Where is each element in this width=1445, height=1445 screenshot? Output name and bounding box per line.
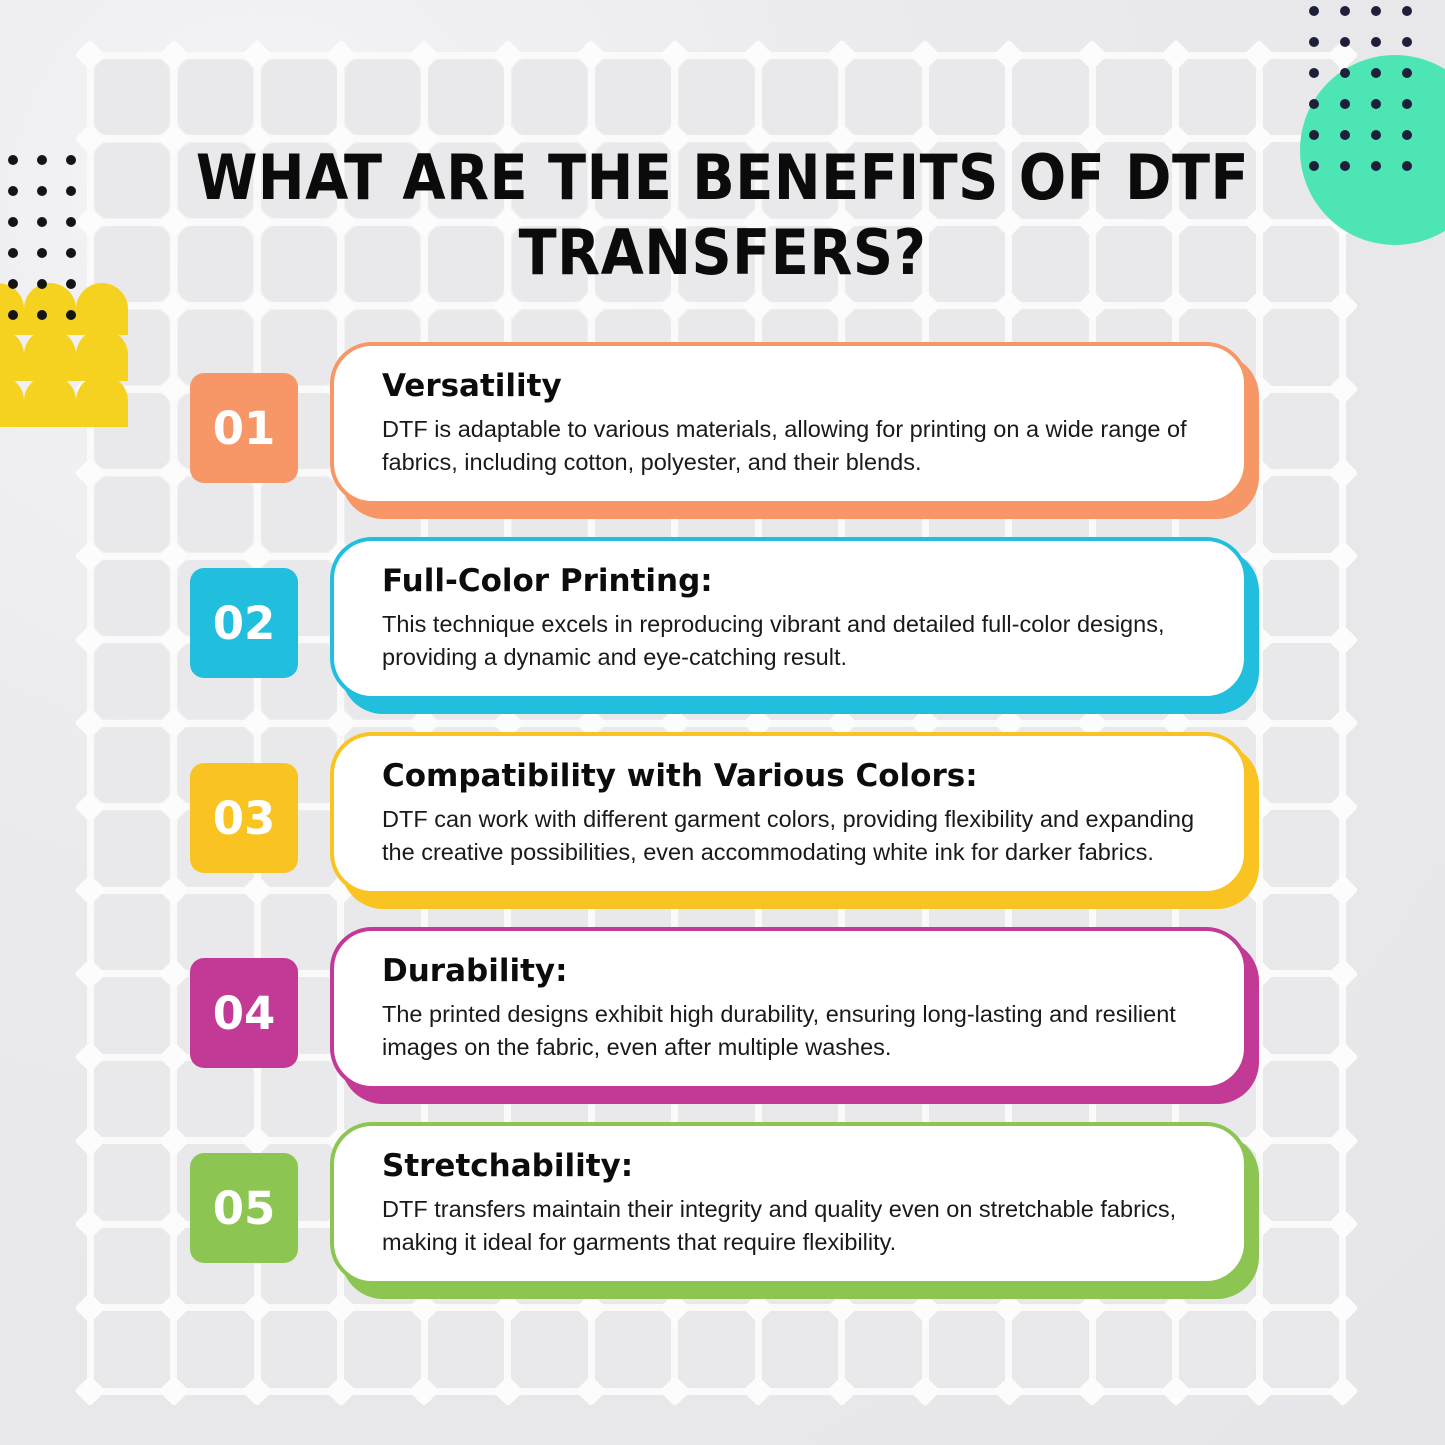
decorative-dot: [66, 310, 76, 320]
decorative-dot: [37, 155, 47, 165]
benefit-card-body: The printed designs exhibit high durabil…: [382, 998, 1210, 1064]
decorative-dot: [37, 186, 47, 196]
benefit-card-body: DTF transfers maintain their integrity a…: [382, 1193, 1210, 1259]
decorative-dot: [37, 248, 47, 258]
benefit-number-badge[interactable]: 05: [190, 1153, 298, 1263]
benefit-card-heading: Stretchability:: [382, 1146, 1210, 1186]
benefit-row: 03Compatibility with Various Colors:DTF …: [0, 728, 1445, 923]
decorative-dot: [8, 279, 18, 289]
decorative-dot: [1371, 68, 1381, 78]
benefit-card-heading: Versatility: [382, 366, 1210, 406]
decorative-dot: [8, 310, 18, 320]
benefit-row: 04Durability:The printed designs exhibit…: [0, 923, 1445, 1118]
decorative-dot: [1371, 130, 1381, 140]
decorative-dot: [1371, 99, 1381, 109]
decorative-dot: [1340, 161, 1350, 171]
benefit-card-body: DTF is adaptable to various materials, a…: [382, 413, 1210, 479]
decorative-dot: [1340, 6, 1350, 16]
benefit-card-wrapper: Durability:The printed designs exhibit h…: [330, 927, 1255, 1102]
benefit-card-wrapper: Stretchability:DTF transfers maintain th…: [330, 1122, 1255, 1297]
decorative-dot: [1309, 37, 1319, 47]
decorative-dot: [37, 279, 47, 289]
benefit-card-body: DTF can work with different garment colo…: [382, 803, 1210, 869]
decorative-dot: [1402, 130, 1412, 140]
benefit-card[interactable]: Stretchability:DTF transfers maintain th…: [330, 1122, 1248, 1285]
decorative-dot: [66, 217, 76, 227]
decorative-dot: [8, 248, 18, 258]
benefit-row: 02Full-Color Printing:This technique exc…: [0, 533, 1445, 728]
benefit-number-badge[interactable]: 03: [190, 763, 298, 873]
benefit-card[interactable]: Compatibility with Various Colors:DTF ca…: [330, 732, 1248, 895]
decorative-dot: [1402, 68, 1412, 78]
decorative-dot: [1340, 99, 1350, 109]
benefit-card[interactable]: Durability:The printed designs exhibit h…: [330, 927, 1248, 1090]
benefit-card-body: This technique excels in reproducing vib…: [382, 608, 1210, 674]
benefit-card[interactable]: VersatilityDTF is adaptable to various m…: [330, 342, 1248, 505]
decorative-dot: [1402, 37, 1412, 47]
decorative-dot: [66, 248, 76, 258]
benefits-card-list: 01VersatilityDTF is adaptable to various…: [0, 338, 1445, 1313]
decorative-dot: [1371, 37, 1381, 47]
benefit-row: 01VersatilityDTF is adaptable to various…: [0, 338, 1445, 533]
decorative-dot: [1371, 6, 1381, 16]
decorative-dot: [8, 186, 18, 196]
benefit-number-badge[interactable]: 02: [190, 568, 298, 678]
benefit-number-badge[interactable]: 01: [190, 373, 298, 483]
decorative-dot: [1309, 99, 1319, 109]
benefit-number-badge[interactable]: 04: [190, 958, 298, 1068]
decorative-dot: [8, 155, 18, 165]
benefit-card-wrapper: Compatibility with Various Colors:DTF ca…: [330, 732, 1255, 907]
page-title: WHAT ARE THE BENEFITS OF DTF TRANSFERS?: [175, 140, 1270, 290]
benefit-card-heading: Compatibility with Various Colors:: [382, 756, 1210, 796]
decorative-dot: [66, 186, 76, 196]
black-dot-grid: [8, 155, 95, 341]
decoration-top-right: [1285, 0, 1445, 215]
benefit-card-wrapper: Full-Color Printing:This technique excel…: [330, 537, 1255, 712]
decorative-dot: [66, 279, 76, 289]
decorative-dot: [66, 155, 76, 165]
decorative-dot: [1309, 6, 1319, 16]
decorative-dot: [8, 217, 18, 227]
decorative-dot: [1402, 99, 1412, 109]
decorative-dot: [37, 310, 47, 320]
decorative-dot: [1402, 6, 1412, 16]
decorative-dot: [1309, 161, 1319, 171]
decorative-dot: [1340, 130, 1350, 140]
decorative-dot: [1309, 68, 1319, 78]
navy-dot-grid: [1309, 6, 1433, 192]
decorative-dot: [1371, 161, 1381, 171]
decorative-dot: [1309, 130, 1319, 140]
decorative-dot: [1340, 68, 1350, 78]
decorative-dot: [37, 217, 47, 227]
benefit-row: 05Stretchability:DTF transfers maintain …: [0, 1118, 1445, 1313]
decorative-dot: [1340, 37, 1350, 47]
benefit-card-heading: Durability:: [382, 951, 1210, 991]
benefit-card[interactable]: Full-Color Printing:This technique excel…: [330, 537, 1248, 700]
decorative-dot: [1402, 161, 1412, 171]
benefit-card-heading: Full-Color Printing:: [382, 561, 1210, 601]
benefit-card-wrapper: VersatilityDTF is adaptable to various m…: [330, 342, 1255, 517]
